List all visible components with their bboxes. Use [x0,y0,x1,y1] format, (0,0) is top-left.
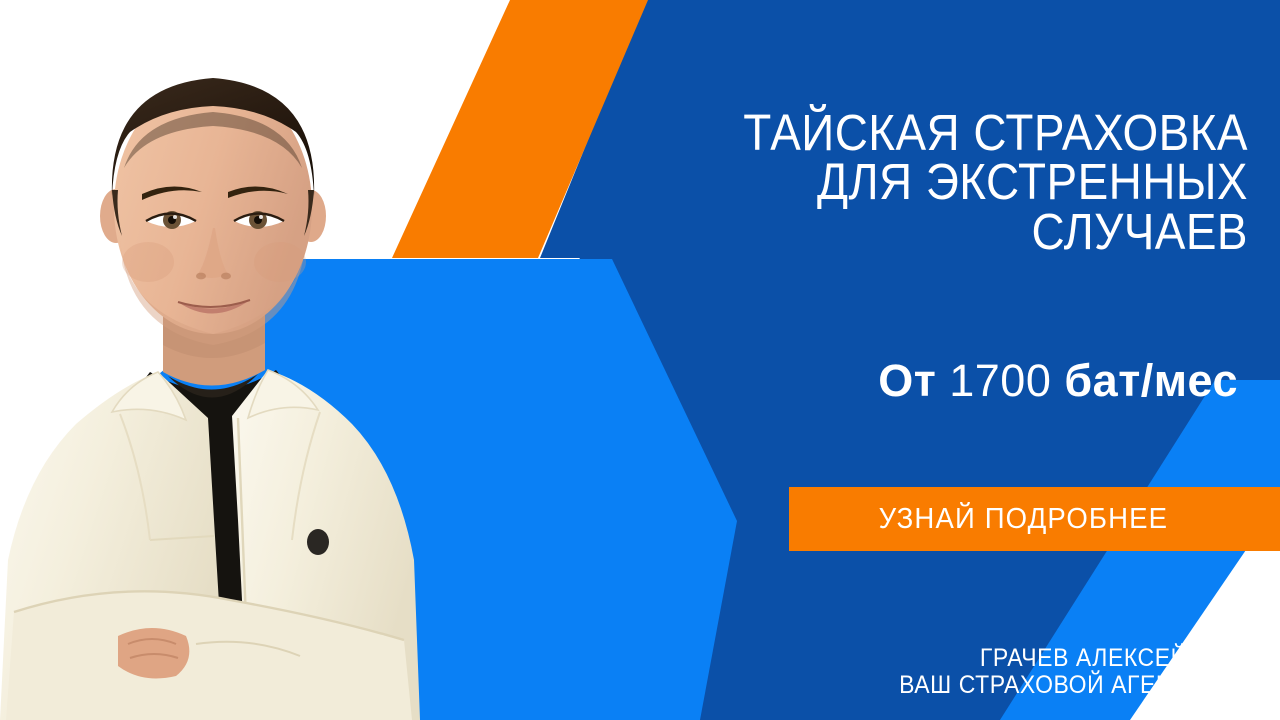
agent-signature: ГРАЧЕВ АЛЕКСЕЙ ВАШ СТРАХОВОЙ АГЕНТ [899,645,1188,699]
headline-line-3: СЛУЧАЕВ [654,207,1248,256]
agent-name: ГРАЧЕВ АЛЕКСЕЙ [899,645,1188,672]
learn-more-button[interactable]: УЗНАЙ ПОДРОБНЕЕ [789,487,1280,551]
headline-line-1: ТАЙСКАЯ СТРАХОВКА [654,108,1248,157]
headline: ТАЙСКАЯ СТРАХОВКА ДЛЯ ЭКСТРЕННЫХ СЛУЧАЕВ [654,108,1248,256]
price-line: От 1700 бат/мес [878,358,1238,403]
price-unit: бат/мес [1064,355,1238,406]
learn-more-button-label: УЗНАЙ ПОДРОБНЕЕ [879,503,1169,536]
price-prefix: От [878,355,936,406]
price-amount: 1700 [949,355,1051,406]
headline-line-2: ДЛЯ ЭКСТРЕННЫХ [654,157,1248,206]
agent-role: ВАШ СТРАХОВОЙ АГЕНТ [899,672,1188,699]
content-layer: ТАЙСКАЯ СТРАХОВКА ДЛЯ ЭКСТРЕННЫХ СЛУЧАЕВ… [0,0,1280,720]
insurance-promo-banner: ТАЙСКАЯ СТРАХОВКА ДЛЯ ЭКСТРЕННЫХ СЛУЧАЕВ… [0,0,1280,720]
